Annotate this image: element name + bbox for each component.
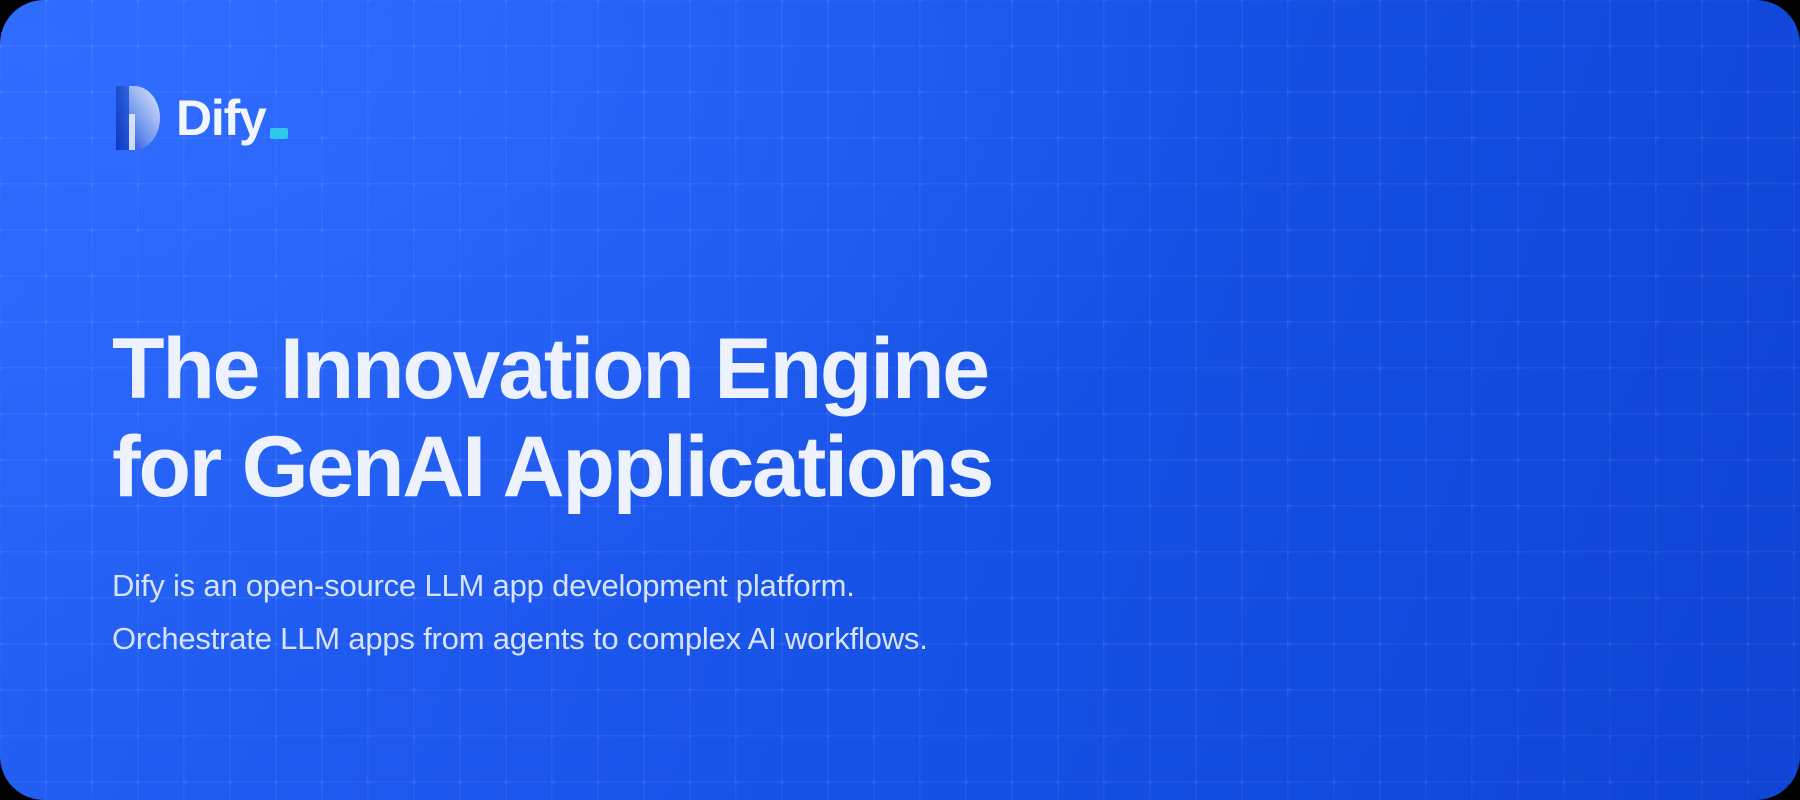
brand-logo[interactable]: Dify <box>112 86 266 150</box>
page-title: The Innovation Engine for GenAI Applicat… <box>112 320 1312 516</box>
page-subtitle: Dify is an open-source LLM app developme… <box>112 559 1312 665</box>
brand-name-text: Dify <box>176 90 266 146</box>
subtitle-line-2: Orchestrate LLM apps from agents to comp… <box>112 612 1312 665</box>
brand-name: Dify <box>176 93 266 143</box>
hero-banner: Dify The Innovation Engine for GenAI App… <box>0 0 1800 800</box>
accent-dash-icon <box>270 128 288 139</box>
headline-line-1: The Innovation Engine <box>112 320 1312 418</box>
headline-line-2: for GenAI Applications <box>112 418 1312 516</box>
dify-d-mark-icon <box>112 86 160 150</box>
subtitle-line-1: Dify is an open-source LLM app developme… <box>112 559 1312 612</box>
